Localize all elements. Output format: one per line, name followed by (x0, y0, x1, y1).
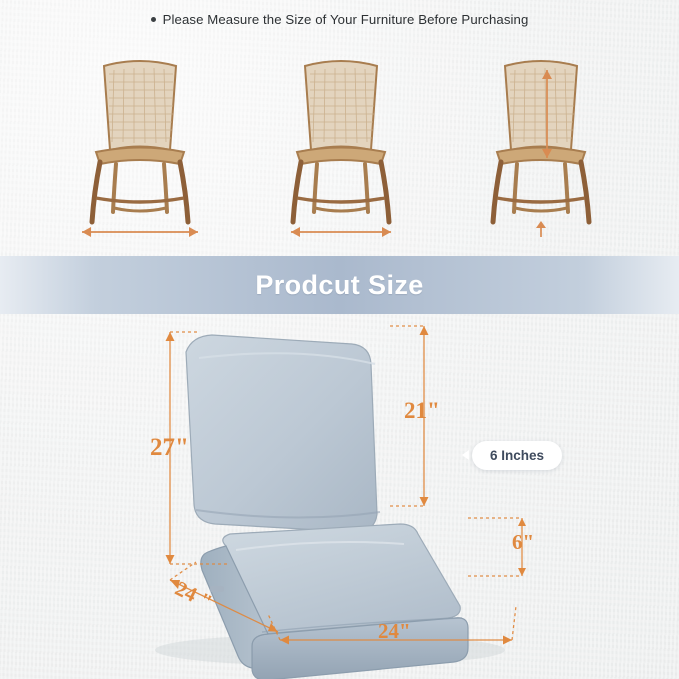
product-size-banner: Prodcut Size (0, 256, 679, 314)
chair-illustration-height (461, 40, 621, 230)
cushion-illustration (0, 314, 679, 679)
chair-height-block: Height (441, 40, 641, 255)
chair-illustration-width (60, 40, 220, 230)
cushion-diagram: 27" 21" 6" 24" 24 " 6 Inches (0, 314, 679, 679)
badge-arrow-icon (462, 450, 469, 460)
bullet-dot-icon (151, 17, 156, 22)
measure-note: Please Measure the Size of Your Furnitur… (0, 12, 679, 27)
thickness-badge: 6 Inches (472, 441, 562, 470)
chair-illustration-depth (261, 40, 421, 230)
height-tick-icon (521, 221, 561, 239)
chair-illustrations: Width (0, 40, 679, 255)
dimension-total-height: 27" (150, 434, 189, 462)
width-measure-arrow-icon (60, 223, 220, 241)
dimension-back-height: 21" (404, 398, 440, 424)
dimension-seat-thickness: 6" (512, 530, 534, 555)
measure-note-text: Please Measure the Size of Your Furnitur… (163, 12, 529, 27)
chair-depth-block: Depth (241, 40, 441, 255)
depth-measure-arrow-icon (261, 223, 421, 241)
chair-width-block: Width (40, 40, 240, 255)
product-size-infographic: Please Measure the Size of Your Furnitur… (0, 0, 679, 679)
banner-title: Prodcut Size (255, 270, 423, 301)
dimension-front-width: 24" (378, 619, 411, 644)
